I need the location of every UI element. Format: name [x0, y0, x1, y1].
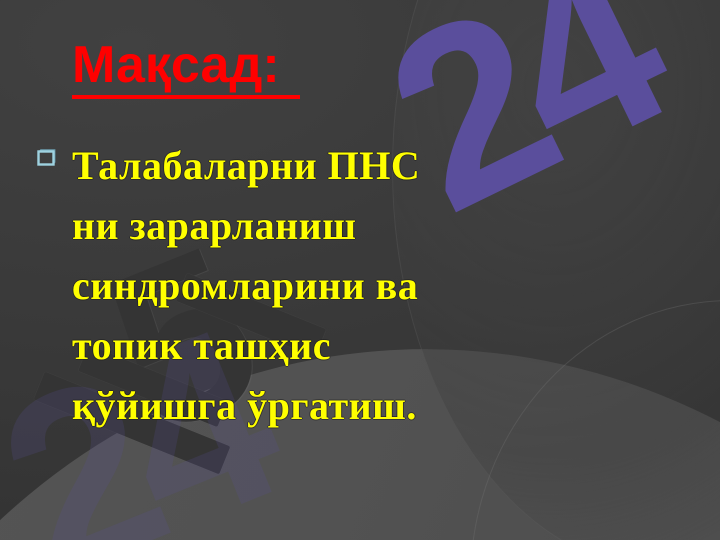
slide-title: Мақсад:: [72, 38, 300, 99]
bullet-line: қўйишга ўргатиш.: [72, 376, 420, 436]
bullet-list: Талабаларни ПНС ни зарарланиш синдромлар…: [36, 136, 656, 436]
bullet-item-text: Талабаларни ПНС ни зарарланиш синдромлар…: [72, 136, 420, 436]
bullet-line: синдромларини ва: [72, 256, 420, 316]
bullet-line: топик ташҳис: [72, 316, 420, 376]
bullet-line: ни зарарланиш: [72, 196, 420, 256]
hollow-square-bullet-icon: [36, 146, 58, 168]
bullet-line: Талабаларни ПНС: [72, 136, 420, 196]
slide-content: Мақсад: Талабаларни ПНС ни зарарланиш си…: [0, 0, 720, 540]
presentation-slide: 5 24 24 Мақсад: Талабаларни ПНС ни зарар…: [0, 0, 720, 540]
